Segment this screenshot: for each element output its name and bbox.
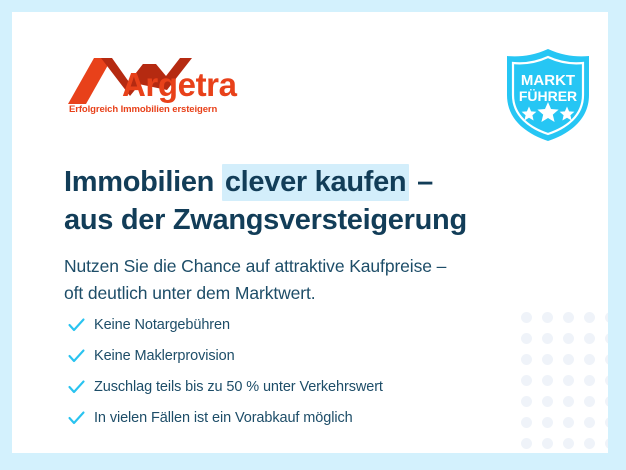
list-item: Keine Maklerprovision <box>68 340 518 371</box>
promo-banner: Argetra Erfolgreich Immobilien ersteiger… <box>0 0 626 470</box>
decorative-dot <box>542 438 553 449</box>
decorative-dot <box>563 396 574 407</box>
decorative-dot <box>563 417 574 428</box>
decorative-dot <box>542 354 553 365</box>
decorative-dot <box>542 396 553 407</box>
headline-line-1: Immobilien clever kaufen – <box>64 164 534 201</box>
decorative-dot <box>605 354 608 365</box>
list-item: In vielen Fällen ist ein Vorabkauf mögli… <box>68 402 518 433</box>
check-icon <box>68 380 94 394</box>
list-item: Keine Notargebühren <box>68 309 518 340</box>
argetra-logo[interactable]: Argetra Erfolgreich Immobilien ersteiger… <box>68 56 258 122</box>
banner-card: Argetra Erfolgreich Immobilien ersteiger… <box>12 12 608 453</box>
badge-line2: FÜHRER <box>519 88 577 104</box>
shield-icon: MARKT FÜHRER <box>503 48 593 142</box>
headline-text-before: Immobilien <box>64 166 222 198</box>
decorative-dot <box>521 396 532 407</box>
page-title: Immobilien clever kaufen – aus der Zwang… <box>64 164 534 239</box>
check-icon <box>68 411 94 425</box>
badge-line1: MARKT <box>521 72 575 89</box>
decorative-dot <box>584 333 595 344</box>
decorative-dot <box>605 417 608 428</box>
decorative-dot <box>542 312 553 323</box>
headline-text-after: – <box>409 166 433 198</box>
decorative-dot <box>563 312 574 323</box>
decorative-dot <box>563 438 574 449</box>
decorative-dot <box>563 354 574 365</box>
decorative-dot <box>521 417 532 428</box>
decorative-dot <box>584 312 595 323</box>
subtitle-line-1: Nutzen Sie die Chance auf attraktive Kau… <box>64 253 544 280</box>
decorative-dot <box>542 417 553 428</box>
dot-grid-decoration <box>521 312 608 453</box>
decorative-dot <box>563 375 574 386</box>
decorative-dot <box>521 312 532 323</box>
list-item-label: In vielen Fällen ist ein Vorabkauf mögli… <box>94 410 353 426</box>
decorative-dot <box>605 333 608 344</box>
list-item-label: Zuschlag teils bis zu 50 % unter Verkehr… <box>94 379 383 395</box>
decorative-dot <box>542 375 553 386</box>
decorative-dot <box>584 417 595 428</box>
check-icon <box>68 318 94 332</box>
decorative-dot <box>605 312 608 323</box>
list-item: Zuschlag teils bis zu 50 % unter Verkehr… <box>68 371 518 402</box>
argetra-tagline: Erfolgreich Immobilien ersteigern <box>69 104 217 115</box>
market-leader-badge: MARKT FÜHRER <box>503 48 593 142</box>
argetra-wordmark: Argetra <box>122 68 237 101</box>
decorative-dot <box>605 375 608 386</box>
list-item-label: Keine Maklerprovision <box>94 348 235 364</box>
subtitle: Nutzen Sie die Chance auf attraktive Kau… <box>64 253 544 307</box>
decorative-dot <box>584 354 595 365</box>
decorative-dot <box>605 396 608 407</box>
benefits-list: Keine NotargebührenKeine Maklerprovision… <box>68 309 518 433</box>
decorative-dot <box>605 438 608 449</box>
decorative-dot <box>521 375 532 386</box>
list-item-label: Keine Notargebühren <box>94 317 230 333</box>
decorative-dot <box>584 396 595 407</box>
headline-line-2: aus der Zwangsversteigerung <box>64 202 534 239</box>
decorative-dot <box>584 438 595 449</box>
decorative-dot <box>563 333 574 344</box>
decorative-dot <box>521 438 532 449</box>
decorative-dot <box>521 333 532 344</box>
decorative-dot <box>584 375 595 386</box>
headline-highlight: clever kaufen <box>222 164 410 201</box>
check-icon <box>68 349 94 363</box>
decorative-dot <box>521 354 532 365</box>
subtitle-line-2: oft deutlich unter dem Marktwert. <box>64 280 544 307</box>
decorative-dot <box>542 333 553 344</box>
